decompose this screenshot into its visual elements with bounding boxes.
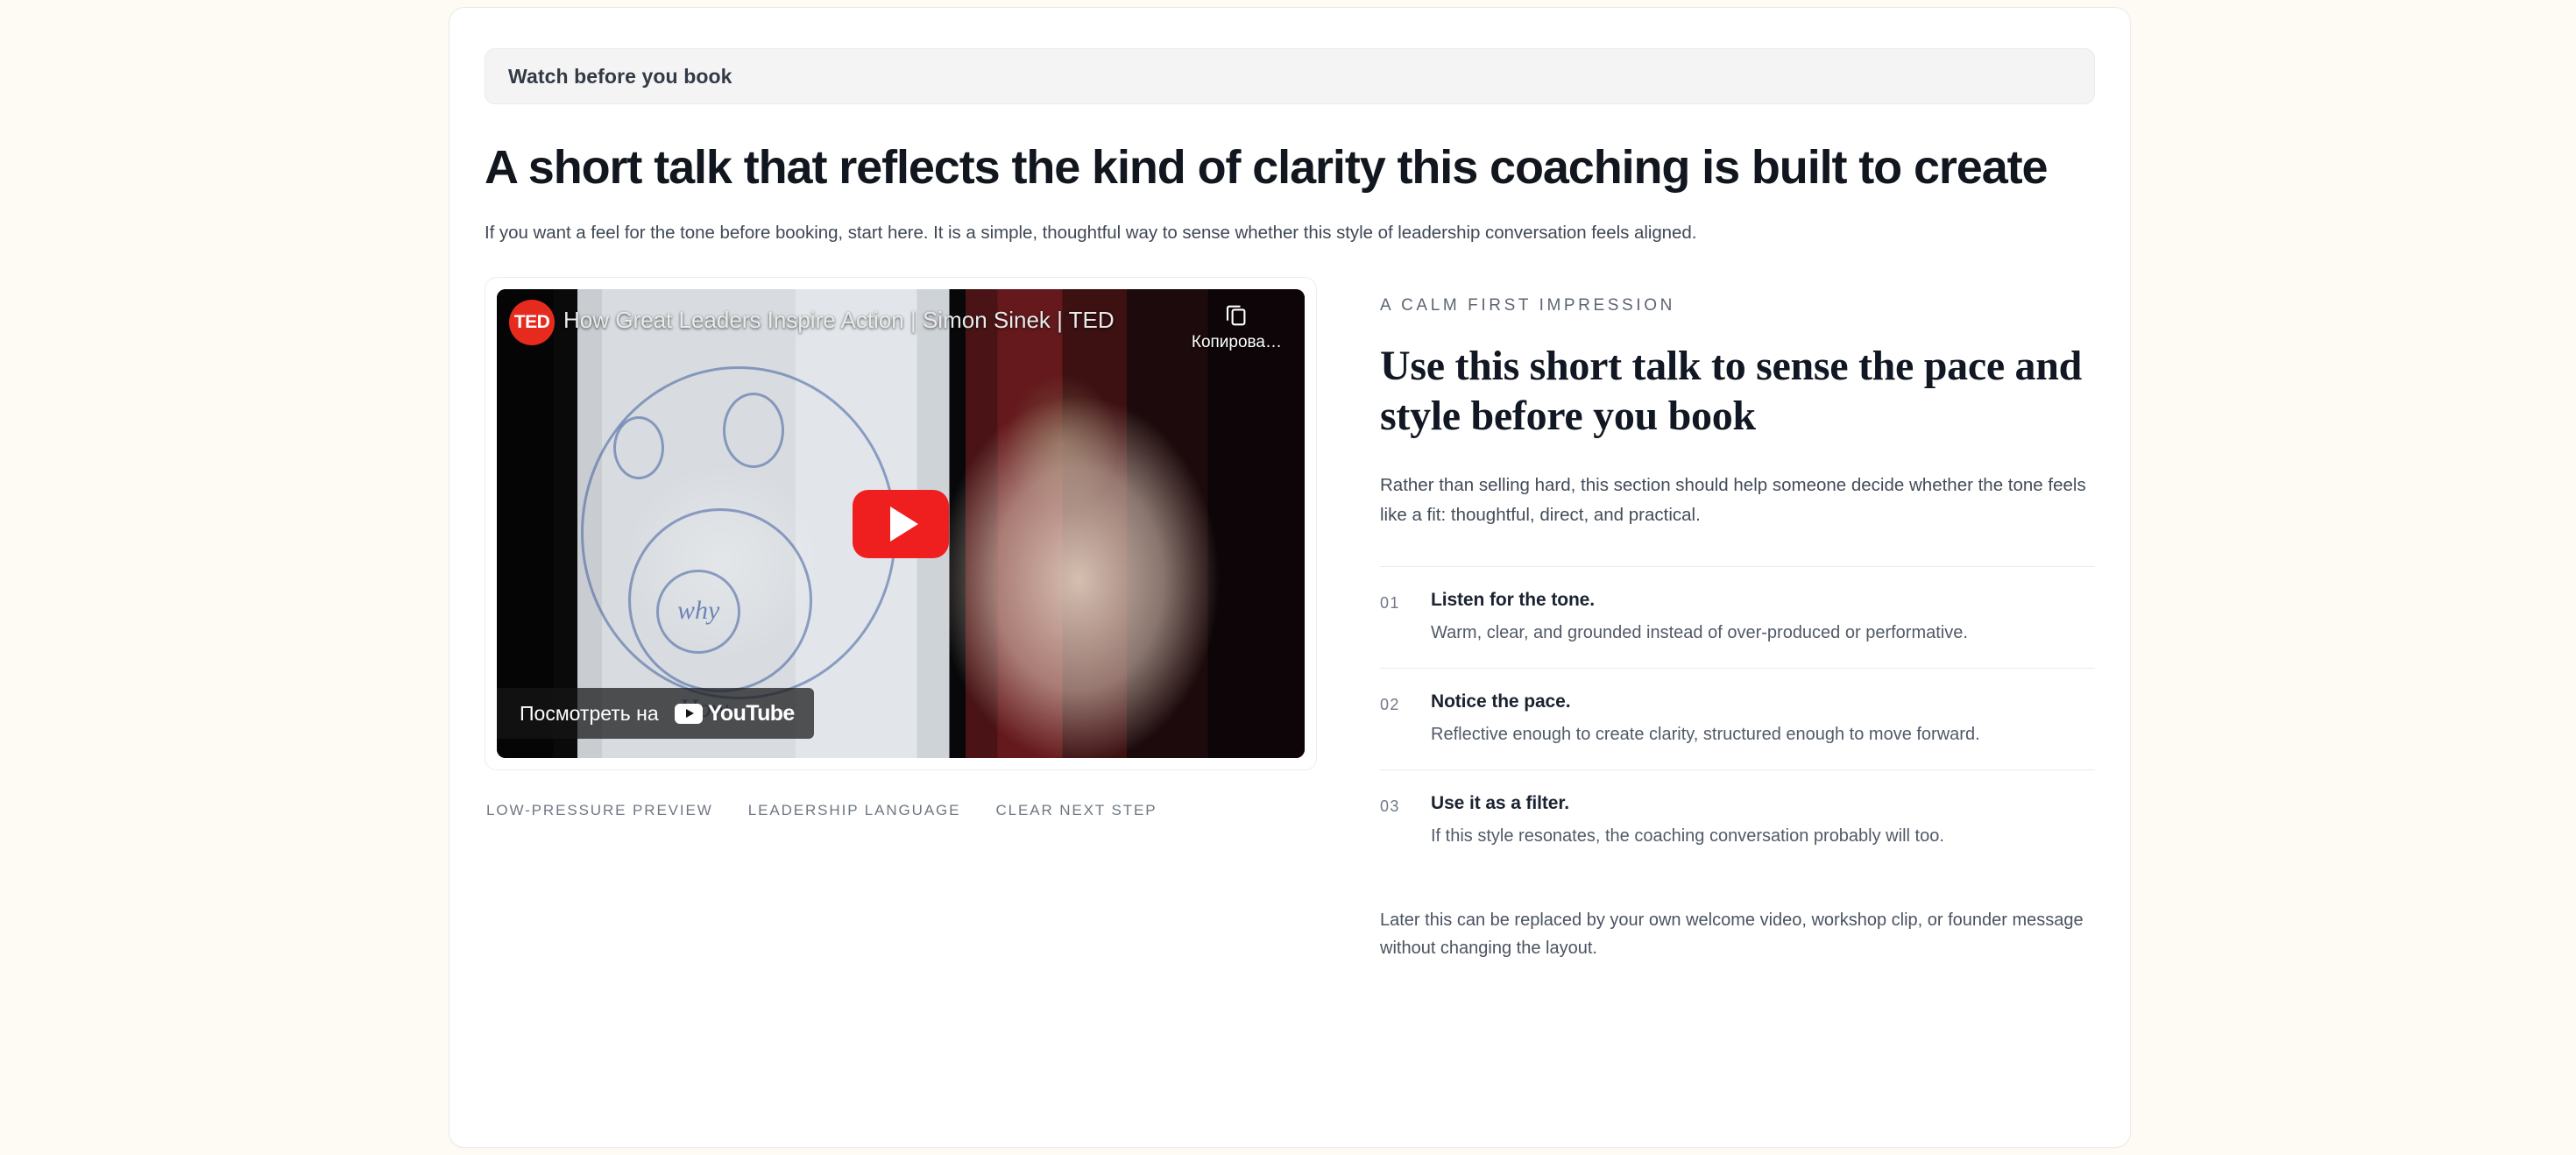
youtube-wordmark: YouTube bbox=[708, 701, 795, 726]
panel-eyebrow: A calm first impression bbox=[1380, 296, 2095, 315]
step-description: Warm, clear, and grounded instead of ove… bbox=[1431, 620, 2095, 647]
youtube-embed[interactable]: why How TED How Great Leaders Inspire Ac… bbox=[497, 289, 1305, 758]
copy-icon bbox=[1223, 301, 1249, 328]
step-title: Notice the pace. bbox=[1431, 691, 2095, 712]
copy-link-button[interactable]: Копирова… bbox=[1192, 301, 1282, 352]
step-body: Use it as a filter. If this style resona… bbox=[1431, 793, 2095, 850]
whiteboard-circle-top bbox=[723, 393, 784, 468]
step-number: 03 bbox=[1380, 793, 1406, 850]
page-title: A short talk that reflects the kind of c… bbox=[485, 141, 2095, 194]
copy-link-label: Копирова… bbox=[1192, 333, 1282, 352]
list-item: 02 Notice the pace. Reflective enough to… bbox=[1380, 668, 2095, 769]
step-body: Notice the pace. Reflective enough to cr… bbox=[1431, 691, 2095, 748]
video-frame: why How TED How Great Leaders Inspire Ac… bbox=[485, 277, 1317, 770]
watch-on-youtube-label: Посмотреть на bbox=[520, 702, 659, 726]
youtube-play-mark bbox=[675, 704, 703, 724]
step-list: 01 Listen for the tone. Warm, clear, and… bbox=[1380, 566, 2095, 872]
watch-on-youtube-button[interactable]: Посмотреть на YouTube bbox=[497, 688, 814, 739]
youtube-logo-icon: YouTube bbox=[675, 701, 795, 726]
step-description: If this style resonates, the coaching co… bbox=[1431, 823, 2095, 850]
tag-list: Low-pressure preview Leadership language… bbox=[485, 802, 1317, 819]
step-number: 02 bbox=[1380, 691, 1406, 748]
content-card: Watch before you book A short talk that … bbox=[449, 7, 2131, 1148]
tag-clear-next-step[interactable]: Clear next step bbox=[995, 802, 1157, 819]
step-title: Use it as a filter. bbox=[1431, 793, 2095, 814]
body-grid: why How TED How Great Leaders Inspire Ac… bbox=[485, 277, 2095, 962]
whiteboard-circle-left bbox=[613, 416, 664, 479]
play-triangle bbox=[890, 507, 918, 542]
step-description: Reflective enough to create clarity, str… bbox=[1431, 721, 2095, 748]
card-inner: Watch before you book A short talk that … bbox=[449, 8, 2130, 962]
list-item: 01 Listen for the tone. Warm, clear, and… bbox=[1380, 566, 2095, 668]
banner-label: Watch before you book bbox=[508, 65, 732, 89]
list-item: 03 Use it as a filter. If this style res… bbox=[1380, 769, 2095, 871]
step-number: 01 bbox=[1380, 590, 1406, 647]
watch-before-you-book-banner: Watch before you book bbox=[485, 48, 2095, 104]
page-root: Watch before you book A short talk that … bbox=[0, 0, 2576, 1155]
tag-low-pressure-preview[interactable]: Low-pressure preview bbox=[486, 802, 713, 819]
whiteboard-text-why: why bbox=[677, 596, 719, 626]
tag-leadership-language[interactable]: Leadership language bbox=[748, 802, 961, 819]
video-title[interactable]: How Great Leaders Inspire Action | Simon… bbox=[563, 307, 1115, 334]
panel-lede: Rather than selling hard, this section s… bbox=[1380, 471, 2095, 528]
step-title: Listen for the tone. bbox=[1431, 590, 2095, 611]
video-column: why How TED How Great Leaders Inspire Ac… bbox=[485, 277, 1317, 962]
play-icon[interactable] bbox=[853, 490, 949, 558]
panel-footnote: Later this can be replaced by your own w… bbox=[1380, 906, 2094, 962]
step-body: Listen for the tone. Warm, clear, and gr… bbox=[1431, 590, 2095, 647]
page-subtitle: If you want a feel for the tone before b… bbox=[485, 220, 2095, 247]
panel-title: Use this short talk to sense the pace an… bbox=[1380, 342, 2095, 441]
ted-logo-icon: TED bbox=[509, 300, 555, 345]
impression-panel: A calm first impression Use this short t… bbox=[1380, 277, 2095, 962]
